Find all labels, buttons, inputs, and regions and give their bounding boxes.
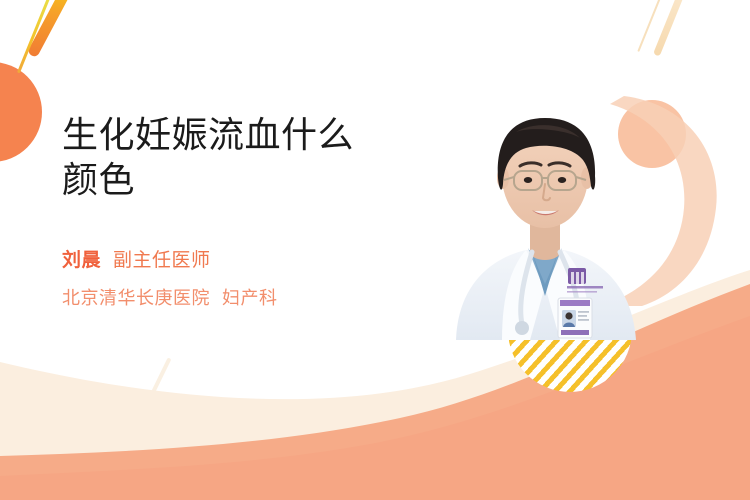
- orange-circle-decoration: [0, 62, 42, 162]
- cream-diagonal-stroke-decoration: [149, 357, 172, 398]
- hospital-department: 妇产科: [222, 288, 278, 308]
- doctor-rank: 副主任医师: [113, 250, 211, 271]
- doctor-affiliation-line: 北京清华长庚医院妇产科: [62, 284, 422, 310]
- page-title: 生化妊娠流血什么 颜色: [62, 112, 422, 203]
- article-text-block: 生化妊娠流血什么 颜色 刘晨副主任医师 北京清华长庚医院妇产科: [62, 112, 422, 310]
- doctor-portrait-photo: [440, 72, 650, 340]
- doctor-credential-line: 刘晨副主任医师: [62, 247, 422, 276]
- yellow-diagonal-stroke-decoration: [17, 0, 52, 73]
- doctor-name: 刘晨: [62, 250, 101, 271]
- doctor-article-header-card: 生化妊娠流血什么 颜色 刘晨副主任医师 北京清华长庚医院妇产科: [0, 0, 750, 500]
- tan-diagonal-stroke-decoration-b: [637, 0, 664, 52]
- tan-diagonal-stroke-decoration-a: [653, 0, 688, 57]
- orange-diagonal-stroke-decoration: [27, 0, 72, 58]
- hospital-name: 北京清华长庚医院: [62, 288, 210, 308]
